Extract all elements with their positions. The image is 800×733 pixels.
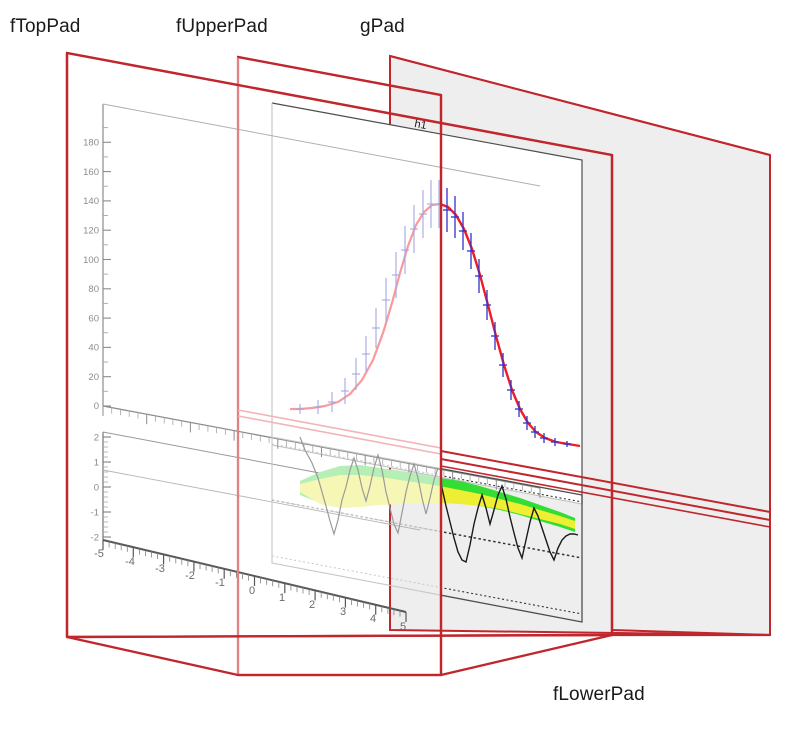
- upper-ytick-0: 0: [94, 401, 99, 412]
- lower-xtick--2: -2: [185, 570, 195, 582]
- label-ftoppad: fTopPad: [10, 16, 80, 38]
- lower-xtick--1: -1: [215, 577, 225, 589]
- lower-xtick-5: 5: [400, 621, 406, 633]
- lower-ytick-2: 2: [94, 433, 99, 444]
- lower-ytick-m2: -2: [91, 533, 99, 544]
- upper-ytick-140: 140: [83, 196, 99, 207]
- lower-xtick--3: -3: [155, 563, 165, 575]
- figure-stage: h1: [0, 0, 800, 733]
- lower-ytick-0: 0: [94, 483, 99, 494]
- upper-ytick-160: 160: [83, 167, 99, 178]
- upper-ytick-120: 120: [83, 226, 99, 237]
- pad-hierarchy-diagram: h1: [0, 0, 800, 733]
- lower-xtick--4: -4: [125, 556, 135, 568]
- label-flowerpad: fLowerPad: [553, 684, 645, 706]
- upper-plot-frame: [272, 103, 582, 504]
- upper-ytick-20: 20: [88, 372, 99, 383]
- upper-ytick-40: 40: [88, 343, 99, 354]
- upper-ytick-80: 80: [88, 284, 99, 295]
- lower-xtick-4: 4: [370, 613, 376, 625]
- lower-xtick--5: -5: [94, 548, 104, 560]
- lower-ytick-m1: -1: [91, 508, 99, 519]
- lower-xtick-3: 3: [340, 606, 346, 618]
- label-gpad: gPad: [360, 16, 405, 38]
- upper-ytick-60: 60: [88, 313, 99, 324]
- label-fupperpad: fUpperPad: [176, 16, 268, 38]
- lower-xtick-2: 2: [309, 599, 315, 611]
- lower-ytick-1: 1: [94, 458, 99, 469]
- lower-xtick-0: 0: [249, 585, 255, 597]
- lower-xtick-1: 1: [279, 592, 285, 604]
- upper-ytick-180: 180: [83, 138, 99, 149]
- upper-ytick-100: 100: [83, 255, 99, 266]
